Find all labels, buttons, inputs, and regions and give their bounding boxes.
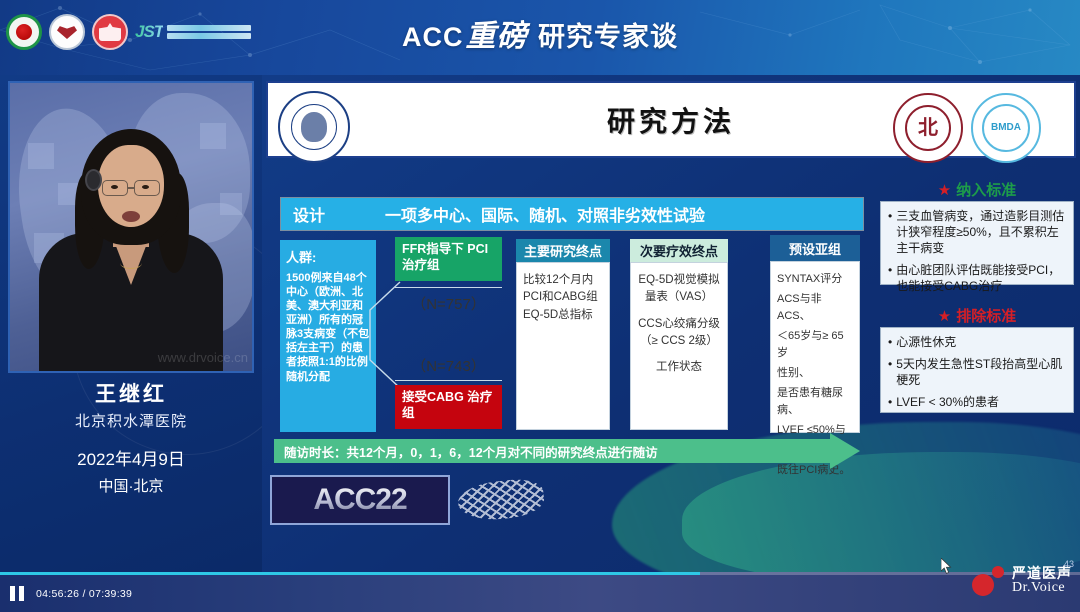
exclusion-criteria-box: • 心源性休克 • 5天内发生急性ST段抬高型心肌梗死 • LVEF < 30%… xyxy=(880,327,1074,413)
banner-title-cursive: 重磅 xyxy=(463,20,529,53)
speaker-name: 王继红 xyxy=(0,378,262,408)
peking-university-logo: 北 xyxy=(893,93,963,163)
secondary-endpoint-header: 次要疗效终点 xyxy=(630,239,728,262)
speaker-glasses-bridge xyxy=(128,187,134,189)
speaker-affiliation: 北京积水潭医院 xyxy=(0,410,262,431)
divider xyxy=(395,380,502,381)
headset-icon xyxy=(85,169,102,191)
secondary-endpoint-item: 工作状态 xyxy=(637,359,721,376)
exclusion-criteria-item-text: 心源性休克 xyxy=(896,334,956,350)
primary-endpoint-header: 主要研究终点 xyxy=(516,239,610,262)
design-bar: 设计 一项多中心、国际、随机、对照非劣效性试验 xyxy=(280,197,864,231)
arm-cabg-box: 接受CABG 治疗组 xyxy=(395,385,502,429)
inclusion-criteria-title: ★纳入标准 xyxy=(880,179,1074,200)
bullet-icon: • xyxy=(888,334,892,350)
progress-bar-track[interactable] xyxy=(0,572,1080,575)
population-text: 1500例来自48个中心（欧洲、北美、澳大利亚和亚洲）所有的冠脉3支病变（不包括… xyxy=(286,271,370,384)
backdrop-square xyxy=(28,143,54,169)
design-text: 一项多中心、国际、随机、对照非劣效性试验 xyxy=(385,202,705,226)
banner-title-rest: 研究专家谈 xyxy=(538,22,678,52)
banner-title-acc: ACC xyxy=(402,22,464,52)
primary-endpoint-column: 主要研究终点 比较12个月内PCI和CABG组EQ-5D总指标 xyxy=(516,239,610,430)
brand-dots-icon xyxy=(972,566,1006,596)
time-display: 04:56:26 / 07:39:39 xyxy=(36,588,132,600)
subgroup-item: 性别、 xyxy=(777,365,853,382)
primary-endpoint-body: 比较12个月内PCI和CABG组EQ-5D总指标 xyxy=(516,262,610,430)
pause-icon[interactable] xyxy=(10,586,24,601)
exclusion-criteria-title: ★排除标准 xyxy=(880,305,1074,326)
slide-title-bar: 研究方法 北 BMDA xyxy=(266,81,1076,158)
bullet-icon: • xyxy=(888,356,892,388)
progress-bar-fill xyxy=(0,572,700,575)
followup-arrow-banner: 随访时长：共12个月，0，1，6，12个月对不同的研究终点进行随访 xyxy=(274,439,860,463)
heart-icon xyxy=(301,112,327,142)
arm-pci-box: FFR指导下 PCI治疗组 xyxy=(395,237,502,281)
speaker-location: 中国·北京 xyxy=(0,475,262,496)
video-watermark: www.drvoice.cn xyxy=(158,350,248,365)
acc22-logo: ACC22 xyxy=(270,475,450,525)
secondary-endpoint-column: 次要疗效终点 EQ-5D视觉模拟量表（VAS） CCS心绞痛分级（≥ CCS 2… xyxy=(630,239,728,430)
backdrop-square xyxy=(220,193,242,215)
acc-logo xyxy=(278,91,350,163)
bullet-icon: • xyxy=(888,262,892,294)
inclusion-criteria-item: • 三支血管病变，通过造影目测估计狭窄程度≥50%，且不累积左主干病变 xyxy=(888,208,1066,256)
inclusion-criteria-box: • 三支血管病变，通过造影目测估计狭窄程度≥50%，且不累积左主干病变 • 由心… xyxy=(880,201,1074,285)
subgroup-item: SYNTAX评分 xyxy=(777,271,853,288)
speaker-date: 2022年4月9日 xyxy=(0,445,262,470)
brand-name-en: Dr.Voice xyxy=(1012,581,1072,596)
population-title: 人群: xyxy=(286,247,370,266)
inclusion-criteria-item: • 由心脏团队评估既能接受PCI，也能接受CABG治疗 xyxy=(888,262,1066,294)
brand-text: 严道医声 Dr.Voice xyxy=(1012,566,1072,595)
secondary-endpoint-item: CCS心绞痛分级（≥ CCS 2级） xyxy=(637,316,721,351)
top-banner: JST ACC重磅 研究专家谈 xyxy=(0,0,1080,75)
video-player-controls: 04:56:26 / 07:39:39 xyxy=(0,572,1080,612)
bmda-logo-text: BMDA xyxy=(982,104,1030,152)
banner-title: ACC重磅 研究专家谈 xyxy=(0,11,1080,55)
mouse-cursor xyxy=(941,558,953,575)
subgroup-item: 是否患有糖尿病、 xyxy=(777,385,853,419)
inclusion-criteria-item-text: 三支血管病变，通过造影目测估计狭窄程度≥50%，且不累积左主干病变 xyxy=(896,208,1066,256)
followup-text: 随访时长：共12个月，0，1，6，12个月对不同的研究终点进行随访 xyxy=(284,442,658,461)
divider xyxy=(395,287,502,288)
speaker-glasses-lens xyxy=(134,180,160,196)
bullet-icon: • xyxy=(888,208,892,256)
design-label: 设计 xyxy=(293,202,385,226)
presentation-slide: 研究方法 北 BMDA 设计 一项多中心、国际、随机、对照非劣效性试验 人群: … xyxy=(262,75,1080,572)
speaker-video[interactable]: www.drvoice.cn xyxy=(8,81,254,373)
exclusion-criteria-item-text: LVEF < 30%的患者 xyxy=(896,394,999,410)
slide-title: 研究方法 xyxy=(607,100,735,140)
speaker-mouth xyxy=(122,211,140,222)
arm-cabg-n: （N=743） xyxy=(395,355,502,376)
stent-graphic xyxy=(456,477,546,524)
subgroup-body: SYNTAX评分 ACS与非ACS、 ＜65岁与≥ 65岁 性别、 是否患有糖尿… xyxy=(770,261,860,433)
exclusion-criteria-item: • LVEF < 30%的患者 xyxy=(888,394,1066,410)
secondary-endpoint-body: EQ-5D视觉模拟量表（VAS） CCS心绞痛分级（≥ CCS 2级） 工作状态 xyxy=(630,262,728,430)
star-icon: ★ xyxy=(938,182,951,199)
inclusion-criteria-title-text: 纳入标准 xyxy=(956,182,1016,199)
drvoice-brand-logo: 严道医声 Dr.Voice xyxy=(972,566,1072,596)
exclusion-criteria-item: • 5天内发生急性ST段抬高型心肌梗死 xyxy=(888,356,1066,388)
subgroup-header: 预设亚组 xyxy=(770,235,860,261)
speaker-panel: www.drvoice.cn 王继红 北京积水潭医院 2022年4月9日 中国·… xyxy=(0,75,262,572)
speaker-glasses-lens xyxy=(102,180,128,196)
subgroup-column: 预设亚组 SYNTAX评分 ACS与非ACS、 ＜65岁与≥ 65岁 性别、 是… xyxy=(770,235,860,433)
bullet-icon: • xyxy=(888,394,892,410)
subgroup-item: ACS与非ACS、 xyxy=(777,291,853,325)
subgroup-item: ＜65岁与≥ 65岁 xyxy=(777,328,853,362)
arm-pci-n: （N=757） xyxy=(395,293,502,314)
exclusion-criteria-item: • 心源性休克 xyxy=(888,334,1066,350)
acc22-logo-text: ACC22 xyxy=(313,483,406,517)
star-icon: ★ xyxy=(938,308,951,325)
inclusion-criteria-item-text: 由心脏团队评估既能接受PCI，也能接受CABG治疗 xyxy=(896,262,1066,294)
backdrop-square xyxy=(200,123,226,149)
speaker-face xyxy=(98,145,164,227)
secondary-endpoint-item: EQ-5D视觉模拟量表（VAS） xyxy=(637,272,721,307)
followup-arrow-tip xyxy=(830,433,860,469)
speaker-necklace xyxy=(120,257,142,269)
bmda-logo: BMDA xyxy=(971,93,1041,163)
brand-name-cn: 严道医声 xyxy=(1012,566,1072,581)
exclusion-criteria-item-text: 5天内发生急性ST段抬高型心肌梗死 xyxy=(896,356,1066,388)
exclusion-criteria-title-text: 排除标准 xyxy=(956,308,1016,325)
